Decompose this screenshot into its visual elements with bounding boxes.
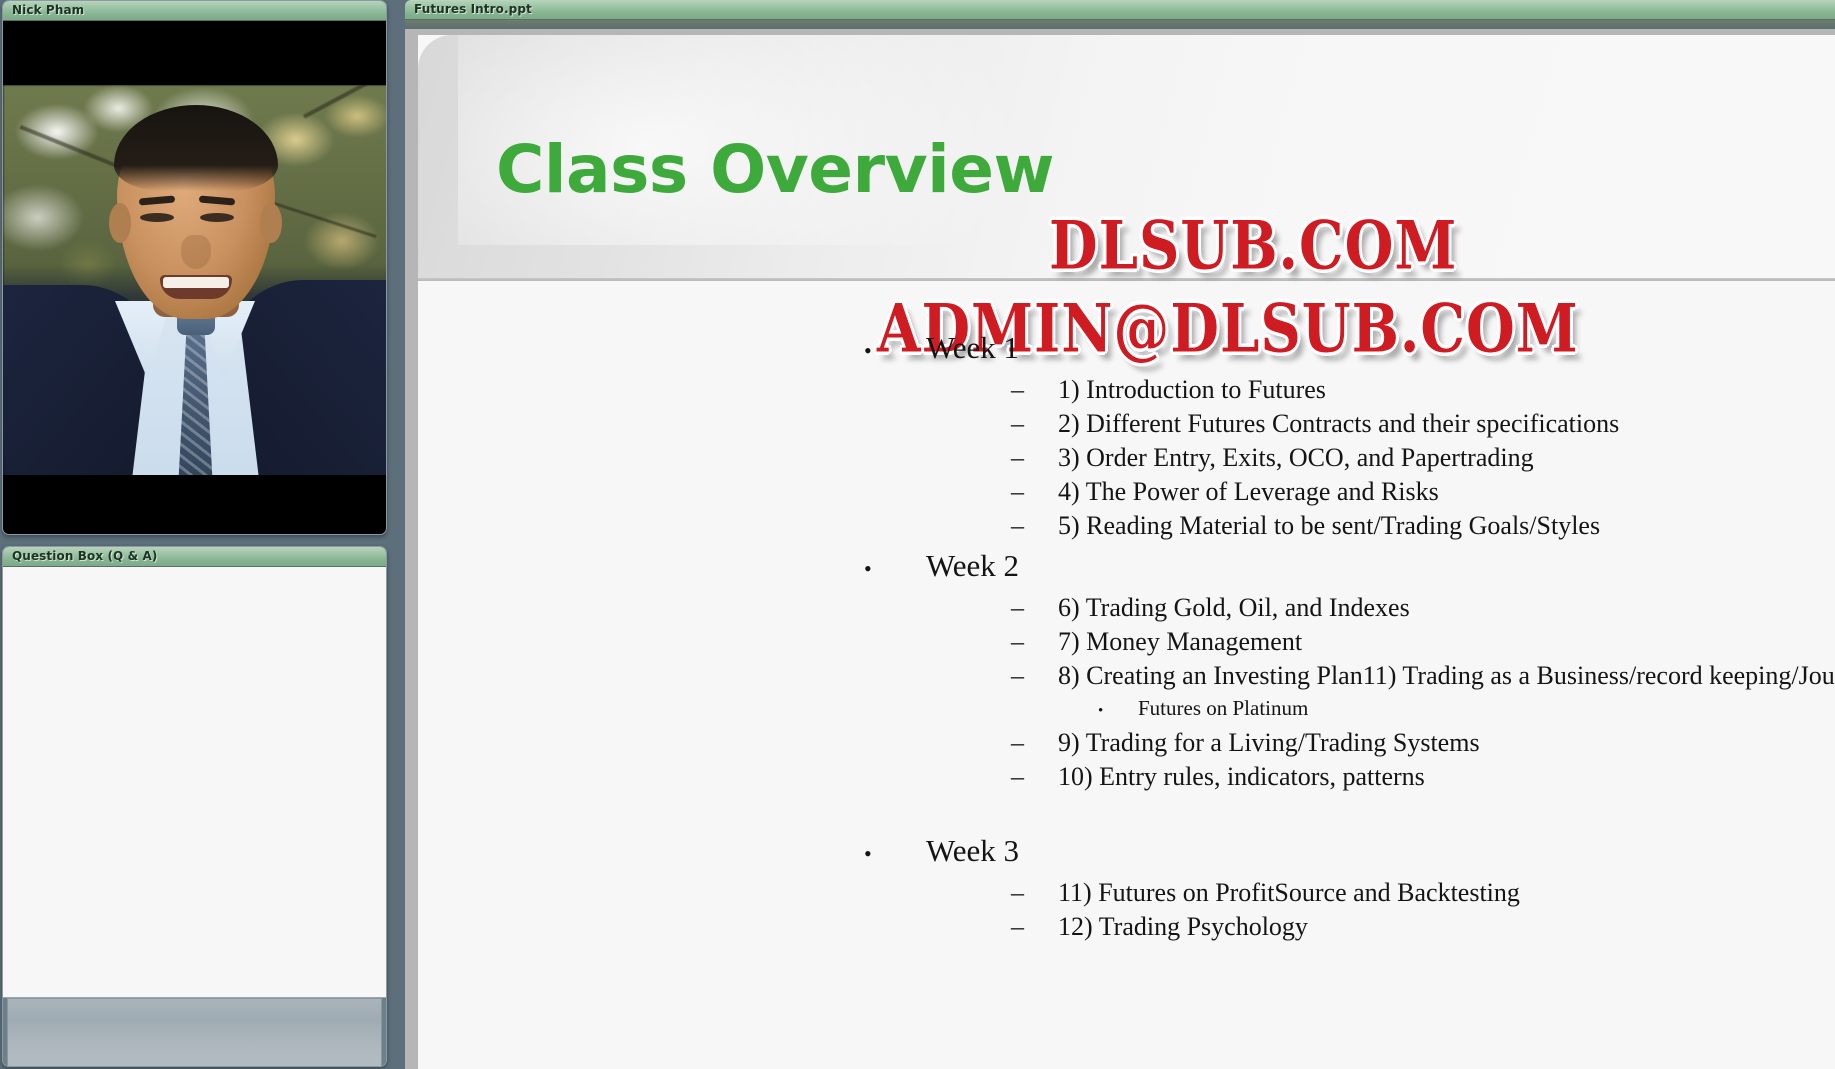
bullet-text: 3) Order Entry, Exits, OCO, and Papertra… xyxy=(1058,441,1534,475)
question-box-titlebar: Question Box (Q & A) xyxy=(3,547,386,567)
bullet-row: •Futures on Platinum xyxy=(418,693,1835,726)
bullet-marker-icon: • xyxy=(864,328,926,373)
bullet-row: •Week 3 xyxy=(418,828,1835,876)
watermark-domain: DLSUB.COM xyxy=(1049,207,1457,285)
ear-left xyxy=(109,203,131,243)
bullet-row: •Week 1 xyxy=(418,325,1835,373)
webinar-window: Nick Pham xyxy=(0,0,1835,1069)
bullet-text: Week 2 xyxy=(926,543,1019,588)
eye-right xyxy=(200,213,234,222)
presenter-video-panel: Nick Pham xyxy=(2,0,387,535)
teeth xyxy=(163,277,229,288)
eye-left xyxy=(140,213,174,222)
bullet-row: –8) Creating an Investing Plan11) Tradin… xyxy=(418,659,1835,693)
question-box-panel: Question Box (Q & A) xyxy=(2,546,387,1067)
question-box-title-label: Question Box (Q & A) xyxy=(12,549,157,563)
bullet-text: 6) Trading Gold, Oil, and Indexes xyxy=(1058,591,1410,625)
bullet-marker-icon: – xyxy=(1011,475,1058,509)
ear-right xyxy=(260,203,282,243)
bullet-row: –9) Trading for a Living/Trading Systems xyxy=(418,726,1835,760)
bullet-row: –2) Different Futures Contracts and thei… xyxy=(418,407,1835,441)
bullet-marker-icon: – xyxy=(1011,407,1058,441)
presenter-video-stage[interactable] xyxy=(3,21,386,535)
presenter-name-label: Nick Pham xyxy=(12,3,84,17)
bullet-marker-icon: – xyxy=(1011,509,1058,543)
bullet-marker-icon: – xyxy=(1011,625,1058,659)
presentation-file-label: Futures Intro.ppt xyxy=(414,2,532,16)
bullet-row: –5) Reading Material to be sent/Trading … xyxy=(418,509,1835,543)
slide-title: Class Overview xyxy=(496,131,1054,208)
slide-bullet-list: •Week 1–1) Introduction to Futures–2) Di… xyxy=(418,325,1835,1069)
bullet-marker-icon: – xyxy=(1011,760,1058,794)
bullet-row: –10) Entry rules, indicators, patterns xyxy=(418,760,1835,794)
bullet-text: 1) Introduction to Futures xyxy=(1058,373,1326,407)
bullet-text: Futures on Platinum xyxy=(1138,693,1308,723)
presenter-video-titlebar: Nick Pham xyxy=(3,1,386,21)
bullet-marker-icon: • xyxy=(1098,696,1138,726)
bullet-marker-icon: • xyxy=(864,831,926,876)
bullet-marker-icon: – xyxy=(1011,373,1058,407)
bullet-marker-icon: – xyxy=(1011,591,1058,625)
slide-viewport: Class Overview DLSUB.COM ADMIN@DLSUB.COM… xyxy=(399,29,1835,1069)
bullet-text: 10) Entry rules, indicators, patterns xyxy=(1058,760,1425,794)
bullet-text: Week 1 xyxy=(926,325,1019,370)
bullet-row: –4) The Power of Leverage and Risks xyxy=(418,475,1835,509)
bullet-row: –12) Trading Psychology xyxy=(418,910,1835,944)
bullet-text: 8) Creating an Investing Plan11) Trading… xyxy=(1058,659,1835,693)
nose xyxy=(181,235,211,269)
bullet-row: –1) Introduction to Futures xyxy=(418,373,1835,407)
presentation-panel: Futures Intro.ppt Class Overview DLSUB.C… xyxy=(399,0,1835,1069)
bullet-row: –7) Money Management xyxy=(418,625,1835,659)
bullet-text: 7) Money Management xyxy=(1058,625,1302,659)
slide-matte: Class Overview DLSUB.COM ADMIN@DLSUB.COM… xyxy=(405,29,1835,1069)
question-log-area[interactable] xyxy=(3,567,386,998)
bullet-row: –6) Trading Gold, Oil, and Indexes xyxy=(418,591,1835,625)
presenter-webcam-image xyxy=(3,85,386,475)
bullet-spacer xyxy=(418,794,1835,828)
bullet-text: 4) The Power of Leverage and Risks xyxy=(1058,475,1439,509)
bullet-text: 5) Reading Material to be sent/Trading G… xyxy=(1058,509,1600,543)
bullet-marker-icon: – xyxy=(1011,876,1058,910)
slide-canvas[interactable]: Class Overview DLSUB.COM ADMIN@DLSUB.COM… xyxy=(418,35,1835,1069)
presentation-toolbar-strip xyxy=(405,20,1835,28)
bullet-marker-icon: – xyxy=(1011,726,1058,760)
bullet-row: –11) Futures on ProfitSource and Backtes… xyxy=(418,876,1835,910)
bullet-row: –3) Order Entry, Exits, OCO, and Papertr… xyxy=(418,441,1835,475)
presentation-titlebar: Futures Intro.ppt xyxy=(405,0,1835,20)
bullet-text: 2) Different Futures Contracts and their… xyxy=(1058,407,1619,441)
bullet-text: Week 3 xyxy=(926,828,1019,873)
bullet-marker-icon: – xyxy=(1011,441,1058,475)
bullet-row: •Week 2 xyxy=(418,543,1835,591)
question-input-field[interactable] xyxy=(7,998,382,1067)
bullet-marker-icon: • xyxy=(864,546,926,591)
bullet-text: 12) Trading Psychology xyxy=(1058,910,1308,944)
bullet-marker-icon: – xyxy=(1011,659,1058,693)
bullet-text: 11) Futures on ProfitSource and Backtest… xyxy=(1058,876,1520,910)
mouth xyxy=(160,275,232,299)
bullet-text: 9) Trading for a Living/Trading Systems xyxy=(1058,726,1480,760)
bullet-marker-icon: – xyxy=(1011,910,1058,944)
